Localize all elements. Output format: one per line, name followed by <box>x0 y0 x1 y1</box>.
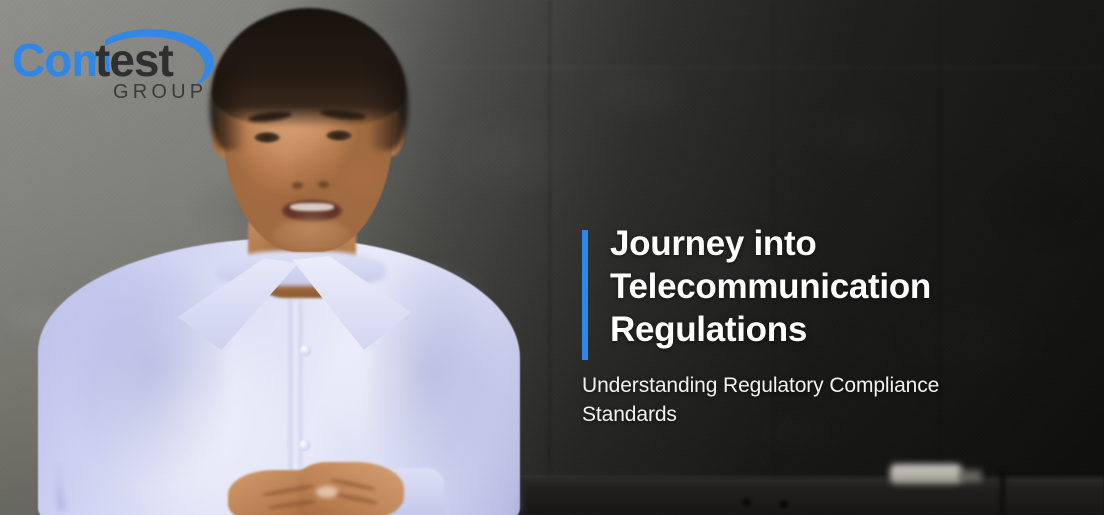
eye-right <box>326 130 352 141</box>
background-dot <box>779 500 788 509</box>
small-object-on-shelf <box>958 470 982 482</box>
hand-highlight <box>316 486 338 498</box>
subtitle-text: Understanding Regulatory Compliance Stan… <box>582 371 1022 429</box>
shirt-fold-left <box>58 360 208 510</box>
eye-left <box>254 132 280 143</box>
comtest-group-logo: Com test GROUP <box>10 18 224 104</box>
presenter-hair-side-right <box>368 54 408 150</box>
logo-word-test: test <box>95 34 173 86</box>
shelf-ledge <box>470 478 1104 515</box>
shirt-button <box>299 440 310 451</box>
face-cheek-right <box>334 150 388 206</box>
chin <box>272 218 350 252</box>
lower-third: Journey into Telecommunication Regulatio… <box>582 222 1082 429</box>
logo-tagline-group: GROUP <box>113 81 207 103</box>
background-dot <box>742 498 751 507</box>
headline-title: Journey into Telecommunication Regulatio… <box>610 222 1082 351</box>
light-object-on-shelf <box>890 464 962 484</box>
background-post <box>1000 470 1005 515</box>
accent-bar <box>582 230 588 360</box>
nostril-left <box>292 182 303 189</box>
teeth <box>290 203 334 211</box>
presenter-hand-right <box>298 462 404 515</box>
face-cheek-left <box>236 152 290 208</box>
video-frame: Com test GROUP Journey into Telecommunic… <box>0 0 1104 515</box>
nostril-right <box>318 181 329 188</box>
shirt-button <box>300 345 311 356</box>
